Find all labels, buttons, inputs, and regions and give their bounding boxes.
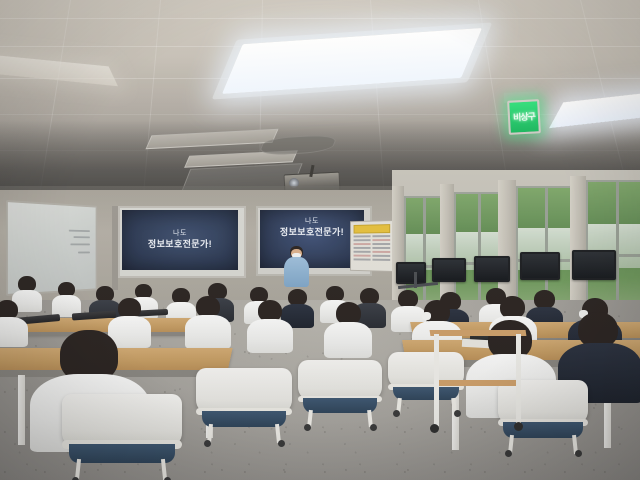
- projection-screen-left: 나도 정보보호전문가!: [122, 210, 238, 270]
- wall-notice-board: [350, 220, 394, 272]
- chair-back: [498, 380, 588, 425]
- chair-back: [196, 368, 292, 414]
- chair: [196, 368, 292, 442]
- desk-leg: [18, 375, 25, 445]
- chair: [498, 380, 588, 452]
- chair-seat: [393, 387, 460, 400]
- chair-seat: [202, 411, 286, 427]
- chair-back: [62, 394, 182, 447]
- chair: [62, 394, 182, 480]
- window: [586, 180, 640, 312]
- cart-caster: [514, 422, 523, 431]
- monitor: [396, 262, 426, 284]
- slide-line-2: 정보보호전문가!: [148, 239, 212, 250]
- chair-seat: [303, 398, 377, 413]
- cart-shelf-top: [430, 330, 527, 336]
- cart-shelf-bottom: [436, 380, 521, 386]
- chair: [298, 360, 382, 426]
- chair-back: [298, 360, 382, 401]
- notice-board-column: [354, 235, 371, 262]
- monitor: [520, 252, 560, 280]
- monitor-arm: [414, 272, 417, 288]
- monitor: [432, 258, 466, 282]
- wall-column: [570, 176, 586, 310]
- wall-column: [440, 184, 454, 308]
- photo-scene: 비상구 나도 정보보호전문가! 나도 정보보호전문가!: [0, 0, 640, 480]
- cart-caster: [430, 424, 439, 433]
- projection-screen-right: 나도 정보보호전문가!: [260, 210, 364, 268]
- slide-line-1: 나도: [173, 230, 187, 239]
- exit-sign-label: 비상구: [513, 112, 535, 122]
- notice-board-column: [372, 235, 390, 263]
- slide-line-2: 정보보호전문가!: [280, 227, 344, 238]
- monitor: [572, 250, 616, 280]
- slide-line-1: 나도: [305, 218, 319, 227]
- notice-board-header: [354, 224, 391, 233]
- chair-seat: [69, 444, 175, 463]
- cart-post: [516, 334, 521, 424]
- cart-post: [434, 334, 439, 426]
- emergency-exit-icon: 비상구: [507, 99, 541, 135]
- monitor: [474, 256, 510, 282]
